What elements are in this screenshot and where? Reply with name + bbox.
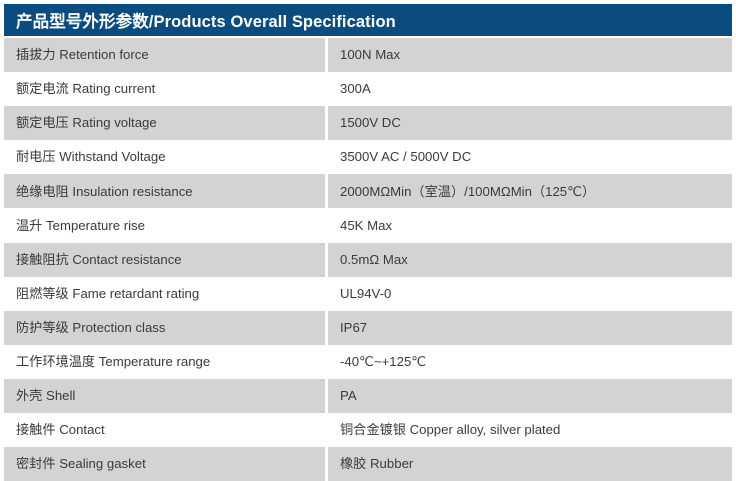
specification-table: 产品型号外形参数/Products Overall Specification … (4, 4, 732, 481)
table-row: 阻燃等级 Fame retardant rating UL94V-0 (4, 277, 732, 311)
table-row: 额定电压 Rating voltage 1500V DC (4, 106, 732, 140)
row-label: 防护等级 Protection class (4, 320, 325, 336)
table-row: 外壳 Shell PA (4, 379, 732, 413)
table-header: 产品型号外形参数/Products Overall Specification (4, 4, 732, 36)
row-value: 0.5mΩ Max (328, 252, 732, 268)
row-label: 耐电压 Withstand Voltage (4, 149, 325, 165)
table-row: 密封件 Sealing gasket 橡胶 Rubber (4, 447, 732, 481)
row-label: 阻燃等级 Fame retardant rating (4, 286, 325, 302)
table-row: 工作环境温度 Temperature range -40℃~+125℃ (4, 345, 732, 379)
table-row: 额定电流 Rating current 300A (4, 72, 732, 106)
row-value: UL94V-0 (328, 286, 732, 302)
row-value: PA (328, 388, 732, 404)
row-value: 1500V DC (328, 115, 732, 131)
row-label: 密封件 Sealing gasket (4, 456, 325, 472)
row-value: IP67 (328, 320, 732, 336)
table-row: 绝缘电阻 Insulation resistance 2000MΩMin（室温）… (4, 174, 732, 208)
table-row: 防护等级 Protection class IP67 (4, 311, 732, 345)
table-body: 插拔力 Retention force 100N Max 额定电流 Rating… (4, 38, 732, 481)
row-label: 外壳 Shell (4, 388, 325, 404)
row-value: -40℃~+125℃ (328, 354, 732, 370)
page-title: 产品型号外形参数/Products Overall Specification (16, 8, 396, 32)
row-label: 接触阻抗 Contact resistance (4, 252, 325, 268)
row-value: 100N Max (328, 47, 732, 63)
row-value: 45K Max (328, 218, 732, 234)
row-value: 2000MΩMin（室温）/100MΩMin（125℃） (328, 184, 732, 200)
table-row: 接触阻抗 Contact resistance 0.5mΩ Max (4, 243, 732, 277)
row-label: 温升 Temperature rise (4, 218, 325, 234)
table-row: 接触件 Contact 铜合金镀银 Copper alloy, silver p… (4, 413, 732, 447)
row-value: 300A (328, 81, 732, 97)
row-value: 铜合金镀银 Copper alloy, silver plated (328, 422, 732, 438)
row-label: 绝缘电阻 Insulation resistance (4, 184, 325, 200)
row-value: 橡胶 Rubber (328, 456, 732, 472)
table-row: 耐电压 Withstand Voltage 3500V AC / 5000V D… (4, 140, 732, 174)
row-label: 额定电流 Rating current (4, 81, 325, 97)
row-label: 插拔力 Retention force (4, 47, 325, 63)
table-row: 温升 Temperature rise 45K Max (4, 208, 732, 242)
row-label: 额定电压 Rating voltage (4, 115, 325, 131)
table-row: 插拔力 Retention force 100N Max (4, 38, 732, 72)
row-value: 3500V AC / 5000V DC (328, 149, 732, 165)
row-label: 工作环境温度 Temperature range (4, 354, 325, 370)
row-label: 接触件 Contact (4, 422, 325, 438)
